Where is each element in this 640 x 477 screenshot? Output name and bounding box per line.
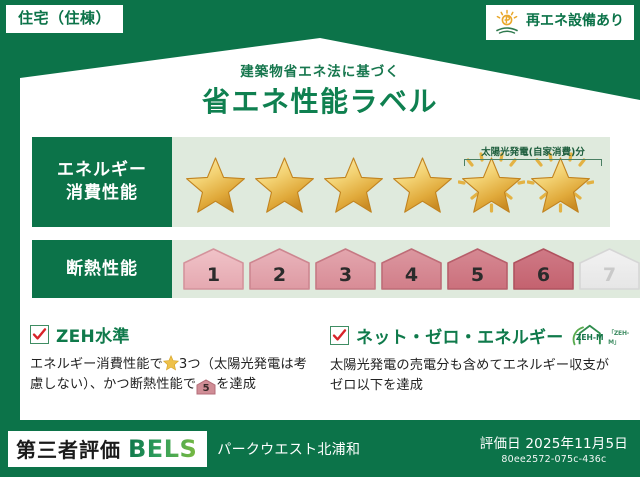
energy-performance-value: 太陽光発電(自家消費)分 bbox=[172, 137, 610, 227]
insulation-level-value: 7 bbox=[603, 264, 616, 286]
inline-star-icon bbox=[163, 355, 179, 371]
dwelling-type-tag: 住宅（住棟） bbox=[6, 5, 123, 33]
star-icon-solar bbox=[458, 149, 525, 215]
star-icon bbox=[389, 149, 456, 215]
zeh-desc-part1: エネルギー消費性能で bbox=[30, 357, 163, 372]
insulation-level-scale: 1234567 bbox=[172, 247, 640, 291]
star-icon-solar bbox=[527, 149, 594, 215]
insulation-level-value: 4 bbox=[405, 264, 418, 286]
insulation-performance-value: 1234567 bbox=[172, 240, 640, 298]
footer-bar: 第三者評価 BELS パークウエスト北浦和 評価日 2025年11月5日 80e… bbox=[0, 420, 640, 477]
criterion-zeh-header: ZEH水準 bbox=[30, 322, 312, 347]
label-subtitle: 建築物省エネ法に基づく bbox=[0, 60, 640, 80]
label-title: 省エネ性能ラベル bbox=[0, 80, 640, 120]
renewable-equipment-badge: 再エネ設備あり bbox=[486, 5, 634, 40]
zeh-description: エネルギー消費性能で 3つ（太陽光発電は考慮しない）、かつ断熱性能で 5 を達成 bbox=[30, 355, 312, 396]
insulation-level-chip: 1 bbox=[182, 247, 245, 291]
building-name: パークウエスト北浦和 bbox=[217, 439, 360, 459]
insulation-level-chip: 7 bbox=[578, 247, 640, 291]
inline-chip-value: 5 bbox=[203, 383, 210, 394]
insulation-level-chip: 6 bbox=[512, 247, 575, 291]
star-icon bbox=[320, 149, 387, 215]
criterion-nze-header: ネット・ゼロ・エネルギー ZEH-M 「ZEH-M」 bbox=[330, 322, 612, 348]
energy-performance-row: エネルギー 消費性能 太陽光発電(自家消費)分 bbox=[32, 137, 610, 227]
criteria-section: ZEH水準 エネルギー消費性能で 3つ（太陽光発電は考慮しない）、かつ断熱性能で… bbox=[30, 322, 612, 397]
net-zero-title: ネット・ゼロ・エネルギー bbox=[356, 323, 564, 348]
insulation-level-chip: 4 bbox=[380, 247, 443, 291]
third-party-label: 第三者評価 bbox=[16, 434, 121, 463]
bels-wordmark: BELS bbox=[128, 435, 197, 463]
insulation-performance-label: 断熱性能 bbox=[32, 240, 172, 298]
energy-performance-label: エネルギー 消費性能 bbox=[32, 137, 172, 227]
evaluation-id: 80ee2572-075c-436c bbox=[480, 454, 628, 465]
net-zero-checkbox[interactable] bbox=[330, 326, 349, 345]
bels-evaluation-box: 第三者評価 BELS bbox=[8, 431, 207, 467]
star-rating bbox=[172, 149, 594, 215]
net-zero-description: 太陽光発電の売電分も含めてエネルギー収支がゼロ以下を達成 bbox=[330, 356, 612, 397]
evaluation-date: 評価日 2025年11月5日 bbox=[480, 432, 628, 452]
zeh-title: ZEH水準 bbox=[56, 322, 130, 347]
zeh-m-logo-caption: 「ZEH-M」 bbox=[608, 328, 635, 348]
insulation-level-chip: 2 bbox=[248, 247, 311, 291]
insulation-level-value: 5 bbox=[471, 264, 484, 286]
inline-level-chip: 5 bbox=[196, 379, 216, 395]
criterion-net-zero-energy: ネット・ゼロ・エネルギー ZEH-M 「ZEH-M」 太陽光発電の売電分も含めて… bbox=[330, 322, 612, 397]
zeh-desc-part3: を達成 bbox=[216, 377, 256, 392]
insulation-level-chip: 5 bbox=[446, 247, 509, 291]
insulation-performance-row: 断熱性能 1234567 bbox=[32, 240, 610, 298]
evaluation-meta: 評価日 2025年11月5日 80ee2572-075c-436c bbox=[480, 432, 628, 465]
insulation-level-value: 1 bbox=[207, 264, 220, 286]
insulation-level-value: 2 bbox=[273, 264, 286, 286]
energy-label-line1: エネルギー bbox=[57, 159, 147, 182]
insulation-level-value: 6 bbox=[537, 264, 550, 286]
star-icon bbox=[182, 149, 249, 215]
zeh-checkbox[interactable] bbox=[30, 325, 49, 344]
svg-text:ZEH-M: ZEH-M bbox=[575, 333, 603, 342]
renewable-badge-label: 再エネ設備あり bbox=[526, 14, 624, 29]
insulation-level-chip: 3 bbox=[314, 247, 377, 291]
criterion-zeh-standard: ZEH水準 エネルギー消費性能で 3つ（太陽光発電は考慮しない）、かつ断熱性能で… bbox=[30, 322, 312, 397]
sun-solar-icon bbox=[494, 9, 520, 35]
energy-label-line2: 消費性能 bbox=[66, 182, 138, 205]
insulation-label-text: 断熱性能 bbox=[66, 258, 138, 281]
star-icon bbox=[251, 149, 318, 215]
zeh-m-logo: ZEH-M 「ZEH-M」 bbox=[572, 322, 636, 348]
insulation-level-value: 3 bbox=[339, 264, 352, 286]
